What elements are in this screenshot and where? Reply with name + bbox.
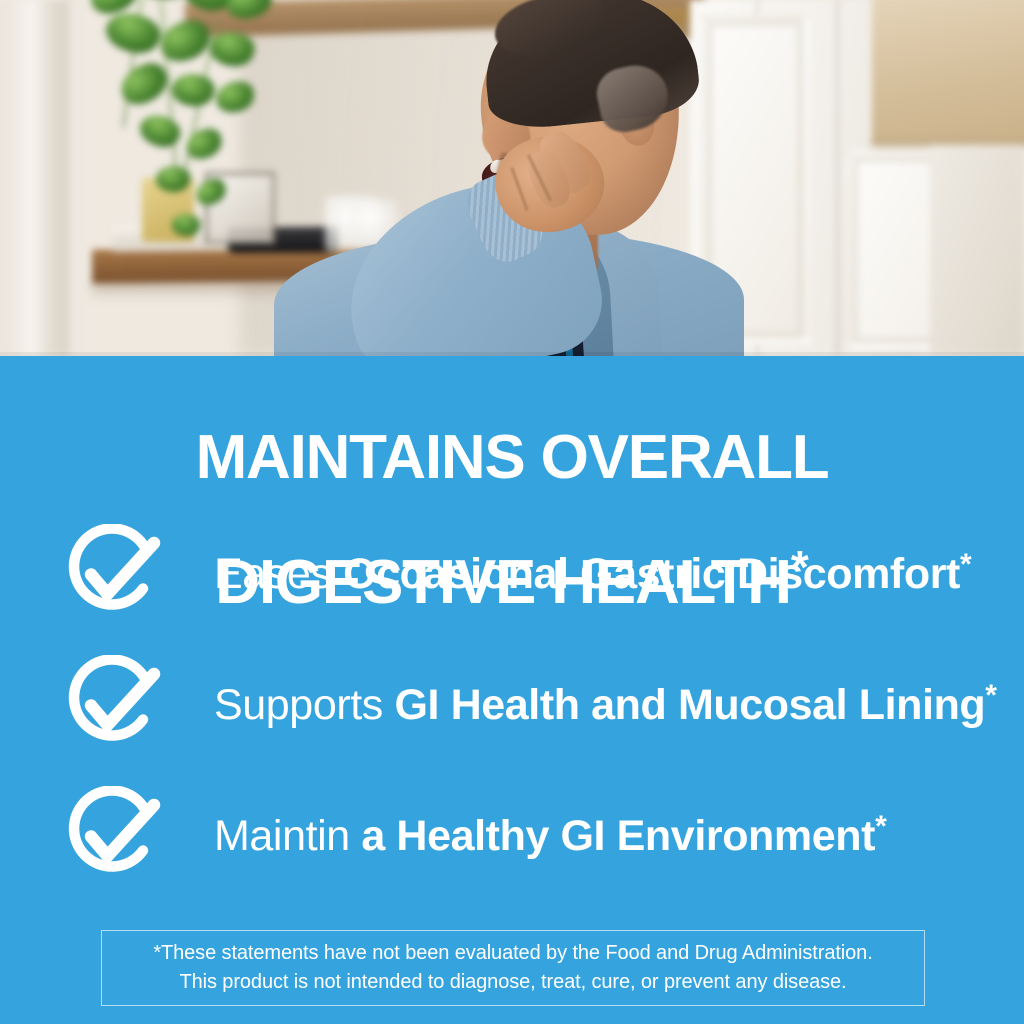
product-benefits-banner: MAINTAINS OVERALL DIGESTIVE HEALTH* Ease… <box>0 0 1024 1024</box>
benefit-text: Maintin a Healthy GI Environment* <box>214 811 886 859</box>
cabinet-far-right <box>930 146 1024 356</box>
benefits-list: Eases Occasional Gastric Discomfort* Sup… <box>0 508 1024 901</box>
benefit-text: Eases Occasional Gastric Discomfort* <box>214 549 971 597</box>
disclaimer-line-2: This product is not intended to diagnose… <box>179 968 846 997</box>
wood-panel <box>872 0 1024 144</box>
benefit-asterisk: * <box>985 679 996 712</box>
benefits-panel: MAINTAINS OVERALL DIGESTIVE HEALTH* Ease… <box>0 356 1024 1024</box>
benefit-asterisk: * <box>875 810 886 843</box>
benefit-light-text: Eases <box>214 550 343 598</box>
benefit-bold-text: Occasional Gastric Discomfort <box>343 550 960 598</box>
check-circle-icon <box>62 655 162 755</box>
list-item: Eases Occasional Gastric Discomfort* <box>0 508 1024 639</box>
hero-photo <box>0 0 1024 356</box>
benefit-bold-text: a Healthy GI Environment <box>361 812 875 860</box>
list-item: Supports GI Health and Mucosal Lining* <box>0 639 1024 770</box>
list-item: Maintin a Healthy GI Environment* <box>0 770 1024 901</box>
headline-line-1: MAINTAINS OVERALL <box>0 428 1024 488</box>
benefit-bold-text: GI Health and Mucosal Lining <box>394 681 985 729</box>
disclaimer-line-1: *These statements have not been evaluate… <box>153 939 872 968</box>
cabinet-seam-2 <box>836 0 839 356</box>
benefit-light-text: Supports <box>214 681 394 729</box>
benefit-asterisk: * <box>960 548 971 581</box>
benefit-light-text: Maintin <box>214 812 361 860</box>
check-circle-icon <box>62 786 162 886</box>
fda-disclaimer-box: *These statements have not been evaluate… <box>101 930 925 1006</box>
benefit-text: Supports GI Health and Mucosal Lining* <box>214 680 997 728</box>
check-circle-icon <box>62 524 162 624</box>
man-subject <box>246 0 806 356</box>
